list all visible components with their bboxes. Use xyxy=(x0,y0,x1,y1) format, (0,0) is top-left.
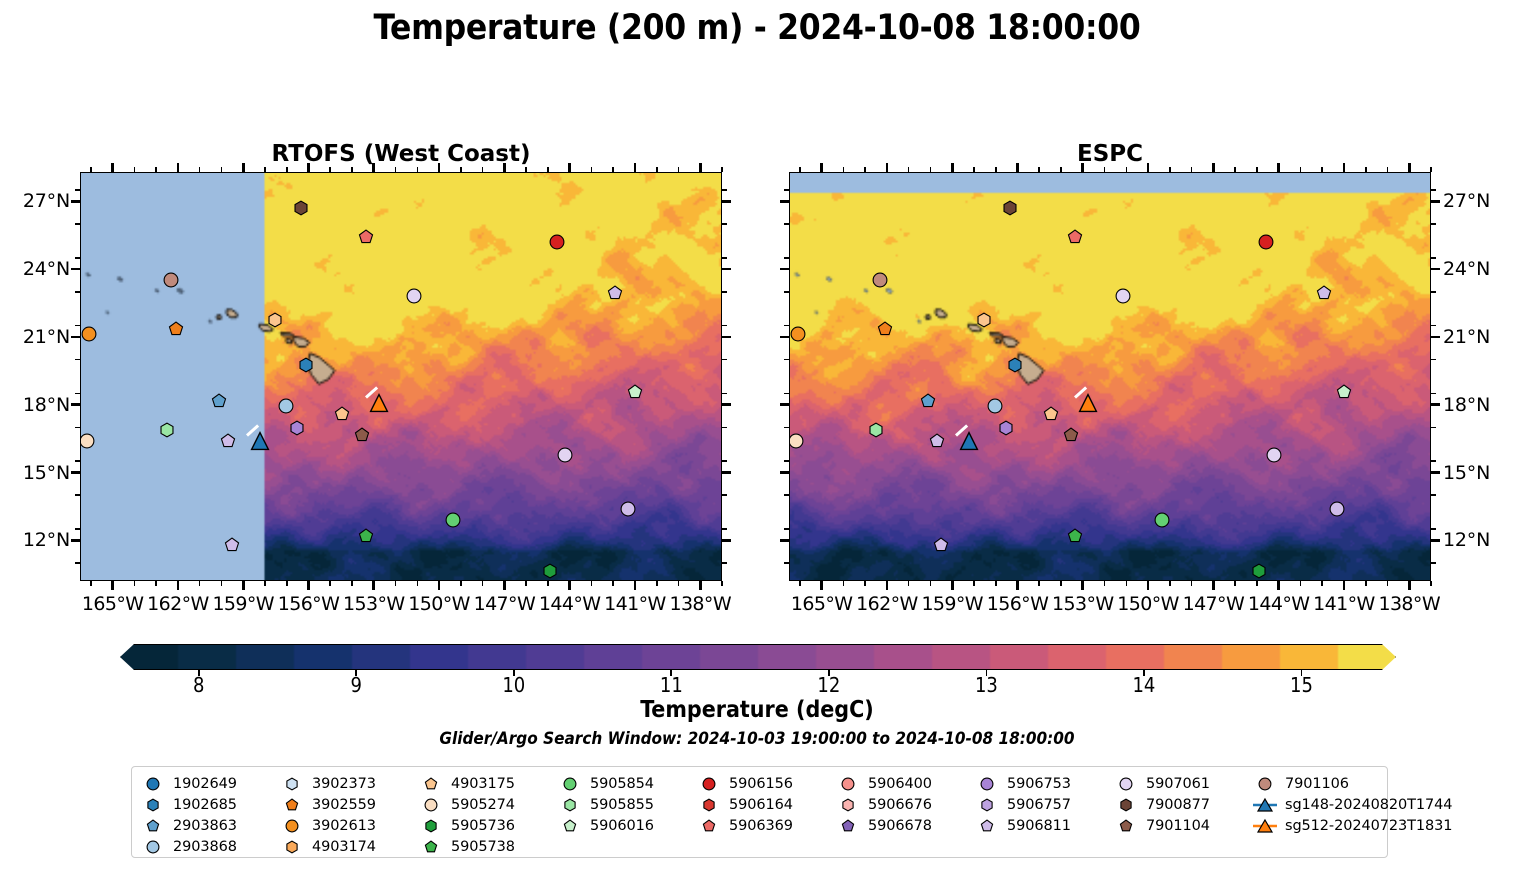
argo-marker[interactable] xyxy=(159,422,175,438)
y-tick-label: 21°N xyxy=(2,326,70,348)
y-tick-minor xyxy=(1431,325,1436,327)
x-tick-minor xyxy=(656,167,658,172)
argo-marker[interactable] xyxy=(358,229,374,245)
y-tick xyxy=(71,268,80,271)
x-tick xyxy=(438,581,441,590)
y-tick-minor xyxy=(1431,189,1436,191)
y-tick-minor xyxy=(722,291,727,293)
x-tick-minor xyxy=(329,581,331,586)
page-title: Temperature (200 m) - 2024-10-08 18:00:0… xyxy=(0,8,1514,48)
argo-marker[interactable] xyxy=(163,272,179,288)
x-tick-minor xyxy=(1038,581,1040,586)
legend-label: 5905738 xyxy=(451,839,515,855)
map-panel-espc[interactable] xyxy=(789,172,1431,581)
argo-marker[interactable] xyxy=(549,234,565,250)
x-tick xyxy=(1016,163,1019,172)
hexagon-marker-icon xyxy=(418,819,444,833)
pentagon-marker-icon xyxy=(279,798,305,812)
x-tick-minor xyxy=(1234,167,1236,172)
x-tick-minor xyxy=(1060,167,1062,172)
x-tick-minor xyxy=(460,581,462,586)
legend-label: 2903868 xyxy=(173,839,237,855)
y-tick xyxy=(780,403,789,406)
y-tick-minor xyxy=(75,189,80,191)
legend-item-argo[interactable]: 7901106 xyxy=(1252,773,1391,794)
y-tick-minor xyxy=(1431,427,1436,429)
legend-empty xyxy=(1252,836,1391,857)
argo-marker[interactable] xyxy=(868,422,884,438)
legend-item-argo[interactable]: 7900877 xyxy=(1113,794,1252,815)
x-tick-minor xyxy=(90,167,92,172)
x-tick-minor xyxy=(329,167,331,172)
x-tick-minor xyxy=(591,581,593,586)
colorbar-tick-label: 13 xyxy=(956,673,1016,697)
y-tick-label: 27°N xyxy=(1443,190,1511,212)
argo-marker[interactable] xyxy=(1115,288,1131,304)
argo-marker[interactable] xyxy=(1316,285,1332,301)
x-tick-minor xyxy=(908,167,910,172)
y-tick-minor xyxy=(722,427,727,429)
legend-label: 5905736 xyxy=(451,818,515,834)
argo-marker[interactable] xyxy=(267,312,283,328)
glider-marker-icon xyxy=(1252,797,1278,813)
y-tick-minor xyxy=(784,427,789,429)
x-tick-minor xyxy=(973,167,975,172)
legend-label: 7900877 xyxy=(1146,797,1210,813)
glider-marker[interactable] xyxy=(370,394,389,413)
x-tick-minor xyxy=(547,581,549,586)
legend-label: 2903863 xyxy=(173,818,237,834)
argo-marker[interactable] xyxy=(334,406,350,422)
colorbar-tick-label: 11 xyxy=(641,673,701,697)
legend-label: 5906369 xyxy=(729,818,793,834)
x-tick-minor xyxy=(721,581,723,586)
argo-marker[interactable] xyxy=(987,398,1003,414)
argo-marker[interactable] xyxy=(1336,384,1352,400)
x-tick xyxy=(177,581,180,590)
y-tick-minor xyxy=(722,223,727,225)
x-tick-minor xyxy=(482,581,484,586)
x-tick-minor xyxy=(1365,581,1367,586)
y-tick-label: 15°N xyxy=(2,462,70,484)
x-tick xyxy=(1081,581,1084,590)
x-tick xyxy=(1212,581,1215,590)
x-tick-minor xyxy=(678,581,680,586)
x-tick-minor xyxy=(591,167,593,172)
temperature-field-rtofs xyxy=(81,173,721,580)
legend-label: 5906016 xyxy=(590,818,654,834)
x-tick xyxy=(951,581,954,590)
y-tick xyxy=(722,268,731,271)
x-tick-minor xyxy=(1430,167,1432,172)
x-tick-minor xyxy=(1387,167,1389,172)
x-tick-minor xyxy=(721,167,723,172)
legend-label: 4903174 xyxy=(312,839,376,855)
argo-marker[interactable] xyxy=(620,501,636,517)
pentagon-marker-icon xyxy=(1113,819,1139,833)
pentagon-marker-icon xyxy=(418,777,444,791)
legend-item-argo[interactable]: 5906757 xyxy=(974,794,1113,815)
pentagon-marker-icon xyxy=(418,840,444,854)
y-tick-minor xyxy=(1431,257,1436,259)
y-tick-minor xyxy=(75,325,80,327)
y-tick-minor xyxy=(784,223,789,225)
y-tick xyxy=(71,200,80,203)
y-tick-minor xyxy=(1431,359,1436,361)
x-tick xyxy=(372,163,375,172)
y-tick-minor xyxy=(784,257,789,259)
legend-grid: 1902649 3902373 4903175 5905854 5906156 … xyxy=(140,773,1391,857)
argo-marker[interactable] xyxy=(354,427,370,443)
y-tick-minor xyxy=(784,528,789,530)
x-tick-minor xyxy=(799,581,801,586)
circle-marker-icon xyxy=(1113,777,1139,791)
legend-label: 5907061 xyxy=(1146,776,1210,792)
x-tick-minor xyxy=(1321,581,1323,586)
x-tick-minor xyxy=(1104,581,1106,586)
argo-marker[interactable] xyxy=(1329,501,1345,517)
legend-item-argo[interactable]: 3902559 xyxy=(279,794,418,815)
y-tick xyxy=(1431,471,1440,474)
pentagon-marker-icon xyxy=(140,819,166,833)
circle-marker-icon xyxy=(1252,777,1278,791)
legend-label: 1902685 xyxy=(173,797,237,813)
argo-marker[interactable] xyxy=(406,288,422,304)
argo-marker[interactable] xyxy=(278,398,294,414)
x-tick-minor xyxy=(351,167,353,172)
argo-marker[interactable] xyxy=(293,200,309,216)
x-tick-minor xyxy=(612,167,614,172)
temperature-field-espc xyxy=(790,173,1430,580)
argo-marker[interactable] xyxy=(1266,447,1282,463)
hexagon-marker-icon xyxy=(1113,798,1139,812)
argo-marker[interactable] xyxy=(298,357,314,373)
legend-item-argo[interactable]: 5905736 xyxy=(418,815,557,836)
x-tick-minor xyxy=(995,581,997,586)
y-tick xyxy=(1431,200,1440,203)
x-tick-minor xyxy=(1038,167,1040,172)
legend-item-argo[interactable]: 2903863 xyxy=(140,815,279,836)
legend-item-glider[interactable]: sg148-20240820T1744 xyxy=(1252,794,1391,815)
x-tick-minor xyxy=(351,581,353,586)
argo-marker[interactable] xyxy=(557,447,573,463)
argo-marker[interactable] xyxy=(1067,528,1083,544)
argo-marker[interactable] xyxy=(790,326,806,342)
x-tick xyxy=(1147,581,1150,590)
x-tick-label: 138°W xyxy=(661,593,739,615)
y-tick xyxy=(1431,403,1440,406)
y-tick-minor xyxy=(1431,562,1436,564)
x-tick xyxy=(1212,163,1215,172)
x-tick-minor xyxy=(134,581,136,586)
colorbar-tick-label: 8 xyxy=(169,673,229,697)
x-tick-minor xyxy=(1169,167,1171,172)
x-tick xyxy=(951,163,954,172)
x-tick-minor xyxy=(199,581,201,586)
legend-box: 1902649 3902373 4903175 5905854 5906156 … xyxy=(131,766,1388,858)
argo-marker[interactable] xyxy=(1067,229,1083,245)
colorbar-tick-label: 10 xyxy=(484,673,544,697)
legend-item-argo[interactable]: 5905274 xyxy=(418,794,557,815)
argo-marker[interactable] xyxy=(1154,512,1170,528)
x-tick xyxy=(1016,581,1019,590)
x-tick xyxy=(372,581,375,590)
argo-marker[interactable] xyxy=(789,433,804,449)
legend-item-argo[interactable]: 5907061 xyxy=(1113,773,1252,794)
x-tick-minor xyxy=(199,167,201,172)
y-tick-label: 24°N xyxy=(2,258,70,280)
argo-marker[interactable] xyxy=(929,433,945,449)
x-tick xyxy=(886,581,889,590)
legend-label: 5906811 xyxy=(1007,818,1071,834)
y-tick-minor xyxy=(1431,460,1436,462)
circle-marker-icon xyxy=(140,840,166,854)
x-tick-minor xyxy=(1191,581,1193,586)
y-tick xyxy=(1431,539,1440,542)
colorbar-tick-label: 14 xyxy=(1114,673,1174,697)
legend-item-argo[interactable]: 7901104 xyxy=(1113,815,1252,836)
legend-label: 5906757 xyxy=(1007,797,1071,813)
x-tick xyxy=(242,163,245,172)
x-tick-minor xyxy=(547,167,549,172)
x-tick-minor xyxy=(1387,581,1389,586)
argo-marker[interactable] xyxy=(224,537,240,553)
x-tick-minor xyxy=(1126,167,1128,172)
y-tick xyxy=(722,403,731,406)
legend-item-argo[interactable]: 5906753 xyxy=(974,773,1113,794)
y-tick-minor xyxy=(722,528,727,530)
y-tick-minor xyxy=(1431,494,1436,496)
argo-marker[interactable] xyxy=(627,384,643,400)
x-tick xyxy=(886,163,889,172)
y-tick-minor xyxy=(75,257,80,259)
x-tick-minor xyxy=(417,581,419,586)
x-tick xyxy=(307,581,310,590)
argo-marker[interactable] xyxy=(220,433,236,449)
map-panel-rtofs[interactable] xyxy=(80,172,722,581)
argo-marker[interactable] xyxy=(358,528,374,544)
colorbar-tick-label: 9 xyxy=(326,673,386,697)
y-tick-minor xyxy=(784,562,789,564)
y-tick-minor xyxy=(722,189,727,191)
x-tick xyxy=(438,163,441,172)
y-tick-label: 12°N xyxy=(2,529,70,551)
legend-item-argo[interactable]: 5906164 xyxy=(696,794,835,815)
argo-marker[interactable] xyxy=(1063,427,1079,443)
argo-marker[interactable] xyxy=(920,393,936,409)
legend-item-argo[interactable]: 5906016 xyxy=(557,815,696,836)
legend-label: 5905274 xyxy=(451,797,515,813)
x-tick-minor xyxy=(930,581,932,586)
x-tick-minor xyxy=(395,581,397,586)
x-tick-minor xyxy=(155,167,157,172)
legend-item-argo[interactable]: 5906811 xyxy=(974,815,1113,836)
glider-marker[interactable] xyxy=(960,432,979,451)
legend-item-argo[interactable]: 2903868 xyxy=(140,836,279,857)
legend-item-argo[interactable]: 5906400 xyxy=(835,773,974,794)
argo-marker[interactable] xyxy=(1258,234,1274,250)
x-tick-label: 138°W xyxy=(1370,593,1448,615)
x-tick-minor xyxy=(908,581,910,586)
y-tick xyxy=(780,200,789,203)
legend-item-argo[interactable]: 4903174 xyxy=(279,836,418,857)
y-tick-minor xyxy=(75,223,80,225)
legend-empty xyxy=(974,836,1113,857)
argo-marker[interactable] xyxy=(542,563,558,579)
legend-item-argo[interactable]: 3902613 xyxy=(279,815,418,836)
legend-item-argo[interactable]: 3902373 xyxy=(279,773,418,794)
legend-item-argo[interactable]: 1902685 xyxy=(140,794,279,815)
x-tick-minor xyxy=(395,167,397,172)
hexagon-marker-icon xyxy=(557,798,583,812)
argo-marker[interactable] xyxy=(80,433,95,449)
y-tick xyxy=(71,403,80,406)
x-tick-minor xyxy=(1256,167,1258,172)
legend-label: 7901104 xyxy=(1146,818,1210,834)
y-tick-minor xyxy=(1431,393,1436,395)
argo-marker[interactable] xyxy=(211,393,227,409)
y-tick xyxy=(780,471,789,474)
legend-item-argo[interactable]: 5906156 xyxy=(696,773,835,794)
x-tick-minor xyxy=(1430,581,1432,586)
x-tick-minor xyxy=(1126,581,1128,586)
y-tick-label: 18°N xyxy=(2,394,70,416)
y-tick-minor xyxy=(75,427,80,429)
pentagon-marker-icon xyxy=(974,819,1000,833)
pentagon-marker-icon xyxy=(835,819,861,833)
x-tick-minor xyxy=(799,167,801,172)
x-tick xyxy=(1343,581,1346,590)
argo-marker[interactable] xyxy=(445,512,461,528)
legend-item-argo[interactable]: 5905738 xyxy=(418,836,557,857)
hexagon-marker-icon xyxy=(279,840,305,854)
legend-item-argo[interactable]: 5906369 xyxy=(696,815,835,836)
y-tick-minor xyxy=(784,325,789,327)
glider-marker[interactable] xyxy=(251,432,270,451)
x-tick xyxy=(503,163,506,172)
y-tick xyxy=(71,336,80,339)
pentagon-marker-icon xyxy=(696,819,722,833)
x-tick-minor xyxy=(90,581,92,586)
legend-label: 5906400 xyxy=(868,776,932,792)
y-tick-minor xyxy=(75,393,80,395)
glider-marker[interactable] xyxy=(1079,394,1098,413)
x-tick-minor xyxy=(1300,167,1302,172)
y-tick-minor xyxy=(722,494,727,496)
legend-item-argo[interactable]: 4903175 xyxy=(418,773,557,794)
hexagon-marker-icon xyxy=(696,798,722,812)
legend-empty xyxy=(696,836,835,857)
x-tick-minor xyxy=(460,167,462,172)
y-tick-label: 21°N xyxy=(1443,326,1511,348)
y-tick-label: 24°N xyxy=(1443,258,1511,280)
argo-marker[interactable] xyxy=(168,321,184,337)
legend-label: 7901106 xyxy=(1285,776,1349,792)
x-tick-minor xyxy=(678,167,680,172)
y-tick-minor xyxy=(784,359,789,361)
argo-marker[interactable] xyxy=(933,537,949,553)
legend-item-argo[interactable]: 5905854 xyxy=(557,773,696,794)
glider-marker-icon xyxy=(1252,818,1278,834)
colorbar[interactable] xyxy=(120,644,1396,670)
y-tick-minor xyxy=(722,562,727,564)
y-tick xyxy=(722,200,731,203)
x-tick xyxy=(699,581,702,590)
x-tick xyxy=(1147,163,1150,172)
argo-marker[interactable] xyxy=(1007,357,1023,373)
legend-item-argo[interactable]: 5906678 xyxy=(835,815,974,836)
y-tick-minor xyxy=(75,359,80,361)
y-tick-minor xyxy=(784,393,789,395)
argo-marker[interactable] xyxy=(872,272,888,288)
x-tick xyxy=(568,163,571,172)
y-tick-minor xyxy=(75,562,80,564)
x-tick xyxy=(1277,163,1280,172)
argo-marker[interactable] xyxy=(607,285,623,301)
argo-marker[interactable] xyxy=(289,420,305,436)
argo-marker[interactable] xyxy=(1043,406,1059,422)
x-tick xyxy=(111,163,114,172)
x-tick xyxy=(1277,581,1280,590)
x-tick xyxy=(242,581,245,590)
legend-label: 5906164 xyxy=(729,797,793,813)
argo-marker[interactable] xyxy=(1002,200,1018,216)
legend-item-argo[interactable]: 1902649 xyxy=(140,773,279,794)
legend-empty xyxy=(1113,836,1252,857)
y-tick-minor xyxy=(784,189,789,191)
legend-label: 5906753 xyxy=(1007,776,1071,792)
x-tick-minor xyxy=(286,167,288,172)
legend-item-glider[interactable]: sg512-20240723T1831 xyxy=(1252,815,1391,836)
y-tick-minor xyxy=(1431,291,1436,293)
argo-marker[interactable] xyxy=(998,420,1014,436)
x-tick-minor xyxy=(1060,581,1062,586)
legend-label: 5905854 xyxy=(590,776,654,792)
x-tick xyxy=(1408,581,1411,590)
legend-label: 5905855 xyxy=(590,797,654,813)
legend-label: 5906678 xyxy=(868,818,932,834)
y-tick-minor xyxy=(75,460,80,462)
legend-item-argo[interactable]: 5906676 xyxy=(835,794,974,815)
hexagon-marker-icon xyxy=(835,798,861,812)
argo-marker[interactable] xyxy=(81,326,97,342)
x-tick-minor xyxy=(286,581,288,586)
x-tick xyxy=(503,581,506,590)
y-tick-minor xyxy=(722,393,727,395)
colorbar-axis-label: Temperature (degC) xyxy=(0,697,1514,723)
argo-marker[interactable] xyxy=(976,312,992,328)
search-window-subtitle: Glider/Argo Search Window: 2024-10-03 19… xyxy=(0,729,1514,749)
y-tick-minor xyxy=(75,291,80,293)
x-tick-minor xyxy=(221,581,223,586)
x-tick xyxy=(699,163,702,172)
y-tick-label: 27°N xyxy=(2,190,70,212)
y-tick xyxy=(780,336,789,339)
y-tick xyxy=(1431,268,1440,271)
legend-item-argo[interactable]: 5905855 xyxy=(557,794,696,815)
legend-label: 3902559 xyxy=(312,797,376,813)
y-tick-minor xyxy=(75,528,80,530)
y-tick xyxy=(722,336,731,339)
argo-marker[interactable] xyxy=(877,321,893,337)
y-tick-minor xyxy=(722,359,727,361)
circle-marker-icon xyxy=(418,798,444,812)
colorbar-tick-label: 15 xyxy=(1271,673,1331,697)
argo-marker[interactable] xyxy=(1251,563,1267,579)
legend-label: 3902373 xyxy=(312,776,376,792)
circle-marker-icon xyxy=(696,777,722,791)
legend-label: sg512-20240723T1831 xyxy=(1285,818,1452,834)
